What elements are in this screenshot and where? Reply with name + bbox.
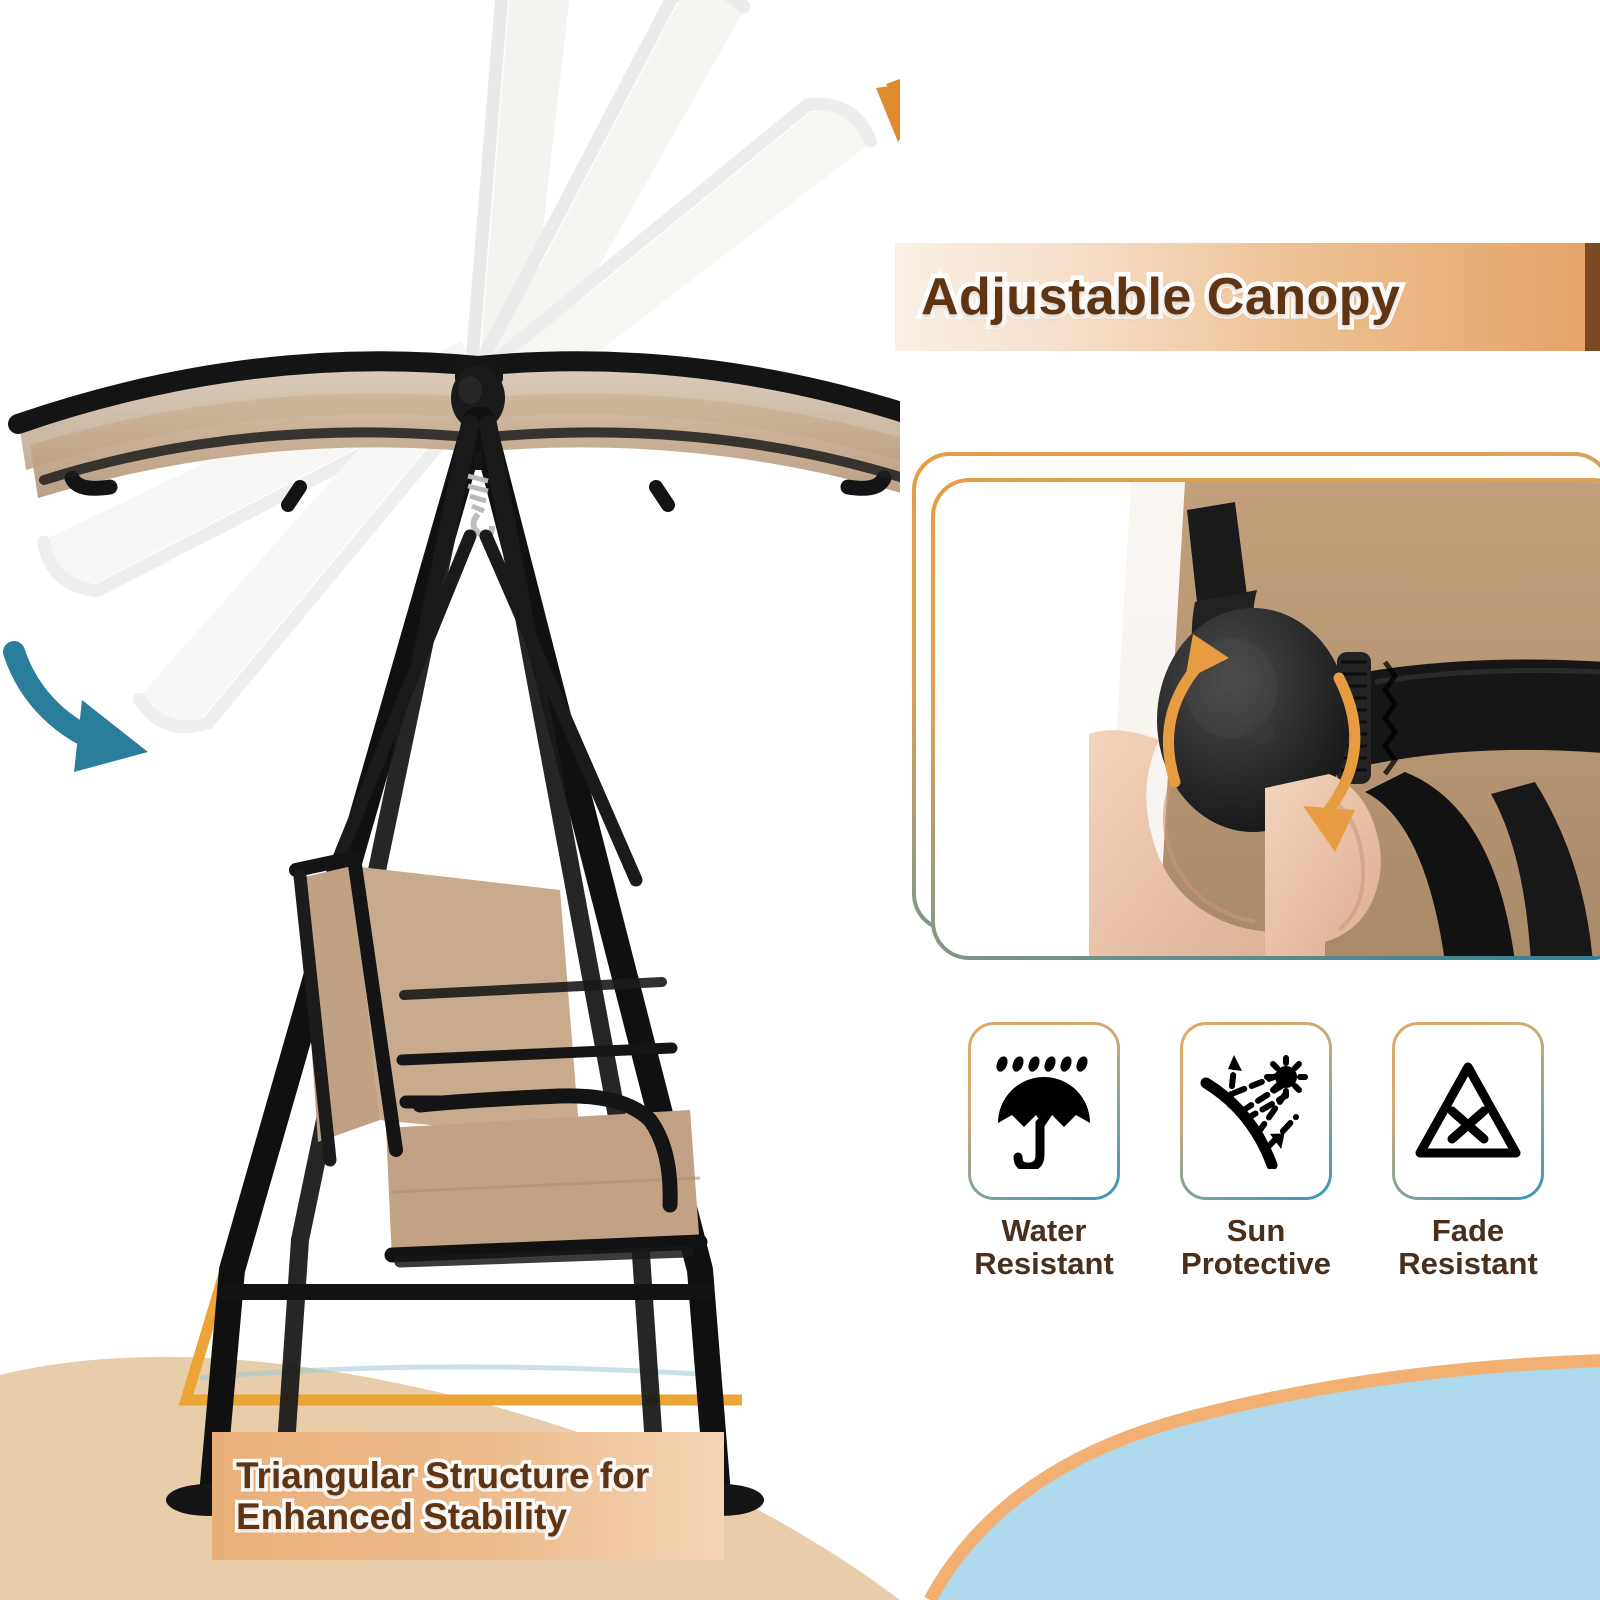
knob-closeup-inset-panel — [912, 452, 1600, 960]
feature-label-line2: Resistant — [1398, 1246, 1538, 1281]
feature-water-resistant: Water Resistant — [950, 1022, 1138, 1312]
canopy-tilt-up-arrow — [876, 74, 900, 202]
sub-title-line2: Enhanced Stability — [236, 1496, 724, 1537]
product-feature-image: Adjustable Canopy — [0, 0, 1600, 1600]
banner-end-cap — [1585, 243, 1600, 351]
feature-fade-resistant: Fade Resistant — [1374, 1022, 1562, 1312]
inset-inner-frame — [931, 478, 1600, 960]
fade-resistant-icon — [1412, 1059, 1524, 1163]
hero-product-illustration — [0, 0, 900, 1600]
sun-protective-icon — [1200, 1053, 1312, 1169]
feature-badges: Water Resistant — [950, 1022, 1600, 1312]
feature-card — [968, 1022, 1120, 1200]
feature-label: Fade Resistant — [1398, 1214, 1538, 1281]
feature-label-line2: Resistant — [974, 1246, 1114, 1281]
umbrella-rain-icon — [990, 1053, 1098, 1169]
feature-label-line1: Sun — [1227, 1213, 1286, 1248]
page-title: Adjustable Canopy — [895, 271, 1400, 323]
feature-label: Water Resistant — [974, 1214, 1114, 1281]
sub-title-line1: Triangular Structure for — [236, 1455, 724, 1496]
feature-card — [1180, 1022, 1332, 1200]
feature-label-line1: Fade — [1432, 1213, 1504, 1248]
feature-label-line2: Protective — [1181, 1246, 1331, 1281]
feature-label: Sun Protective — [1181, 1214, 1331, 1281]
canopy-tilt-down-arrow — [14, 652, 148, 772]
feature-sun-protective: Sun Protective — [1162, 1022, 1350, 1312]
feature-card — [1392, 1022, 1544, 1200]
triangular-structure-banner: Triangular Structure for Enhanced Stabil… — [212, 1432, 724, 1560]
adjustable-canopy-banner: Adjustable Canopy — [895, 243, 1585, 351]
knob-closeup-photo — [935, 482, 1600, 956]
feature-label-line1: Water — [1002, 1213, 1087, 1248]
